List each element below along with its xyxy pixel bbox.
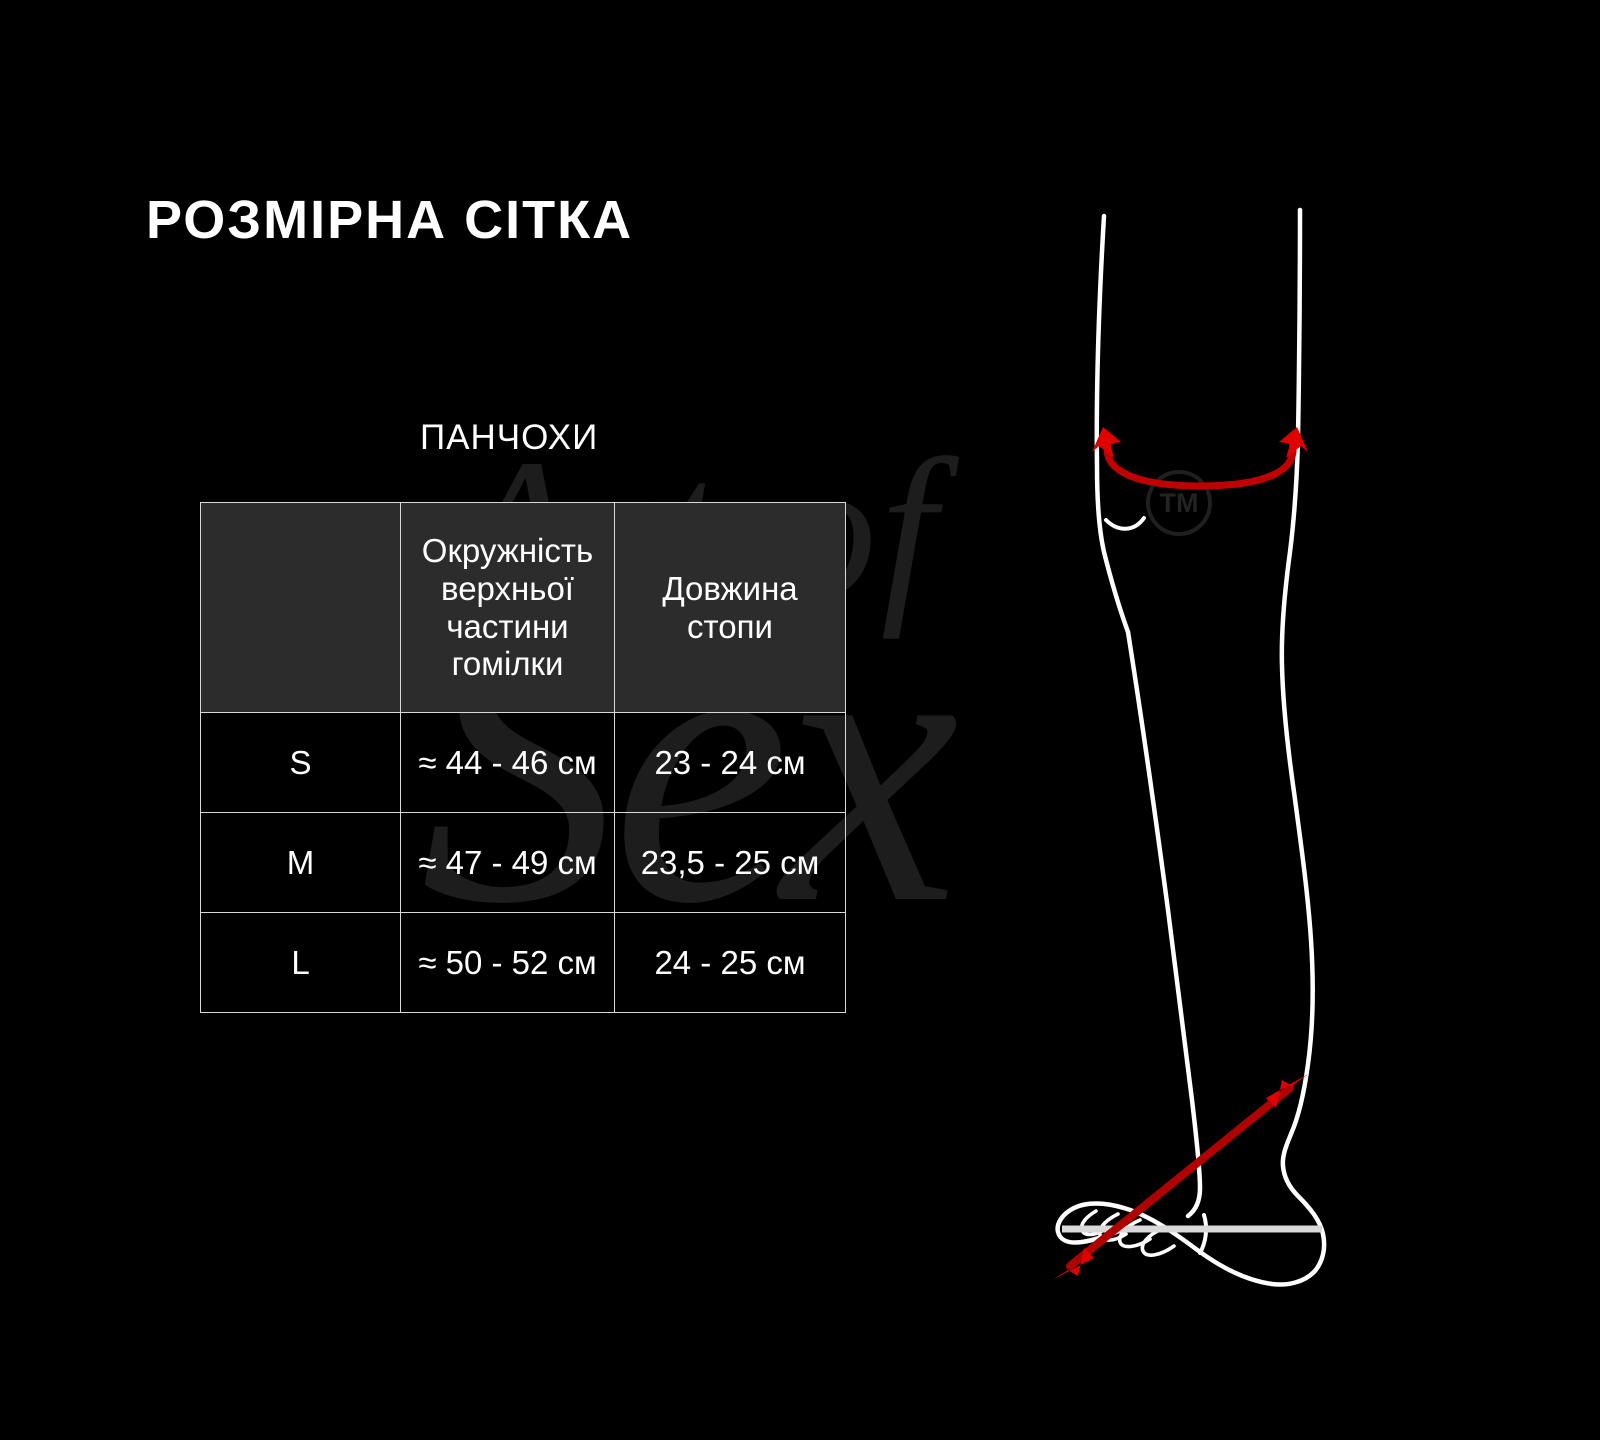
cell-foot-length: 23,5 - 25 см: [615, 813, 846, 913]
section-label-stockings: ПАНЧОХИ: [420, 418, 598, 458]
thigh-circumference-arrow: [1107, 442, 1293, 486]
column-header-foot-length: Довжина стопи: [615, 503, 846, 713]
leg-measurement-illustration: [1000, 180, 1420, 1300]
table-row: S ≈ 44 - 46 см 23 - 24 см: [201, 713, 846, 813]
column-header-size: [201, 503, 401, 713]
cell-circumference: ≈ 50 - 52 см: [401, 913, 615, 1013]
table-body: S ≈ 44 - 46 см 23 - 24 см M ≈ 47 - 49 см…: [201, 713, 846, 1013]
knee-detail-icon: [1106, 518, 1144, 529]
cell-circumference: ≈ 47 - 49 см: [401, 813, 615, 913]
leg-front-lower-outline-icon: [1128, 632, 1200, 1216]
ankle-bone-detail-icon: [1200, 1215, 1206, 1253]
table-header-row: Окружність верхньої частини гомілки Довж…: [201, 503, 846, 713]
table-row: L ≈ 50 - 52 см 24 - 25 см: [201, 913, 846, 1013]
leg-back-outline-icon: [1282, 210, 1324, 1272]
column-header-circumference: Окружність верхньої частини гомілки: [401, 503, 615, 713]
cell-size: M: [201, 813, 401, 913]
cell-size: L: [201, 913, 401, 1013]
size-chart-canvas: Art of Sex TM РОЗМІРНА СІТКА ПАНЧОХИ Окр…: [0, 0, 1600, 1440]
cell-circumference: ≈ 44 - 46 см: [401, 713, 615, 813]
cell-foot-length: 24 - 25 см: [615, 913, 846, 1013]
page-title: РОЗМІРНА СІТКА: [146, 189, 633, 251]
table-row: M ≈ 47 - 49 см 23,5 - 25 см: [201, 813, 846, 913]
leg-diagram-svg: [1000, 180, 1420, 1300]
leg-front-outline-icon: [1097, 216, 1128, 632]
table-header: Окружність верхньої частини гомілки Довж…: [201, 503, 846, 713]
cell-size: S: [201, 713, 401, 813]
cell-foot-length: 23 - 24 см: [615, 713, 846, 813]
size-chart-table: Окружність верхньої частини гомілки Довж…: [200, 502, 846, 1013]
